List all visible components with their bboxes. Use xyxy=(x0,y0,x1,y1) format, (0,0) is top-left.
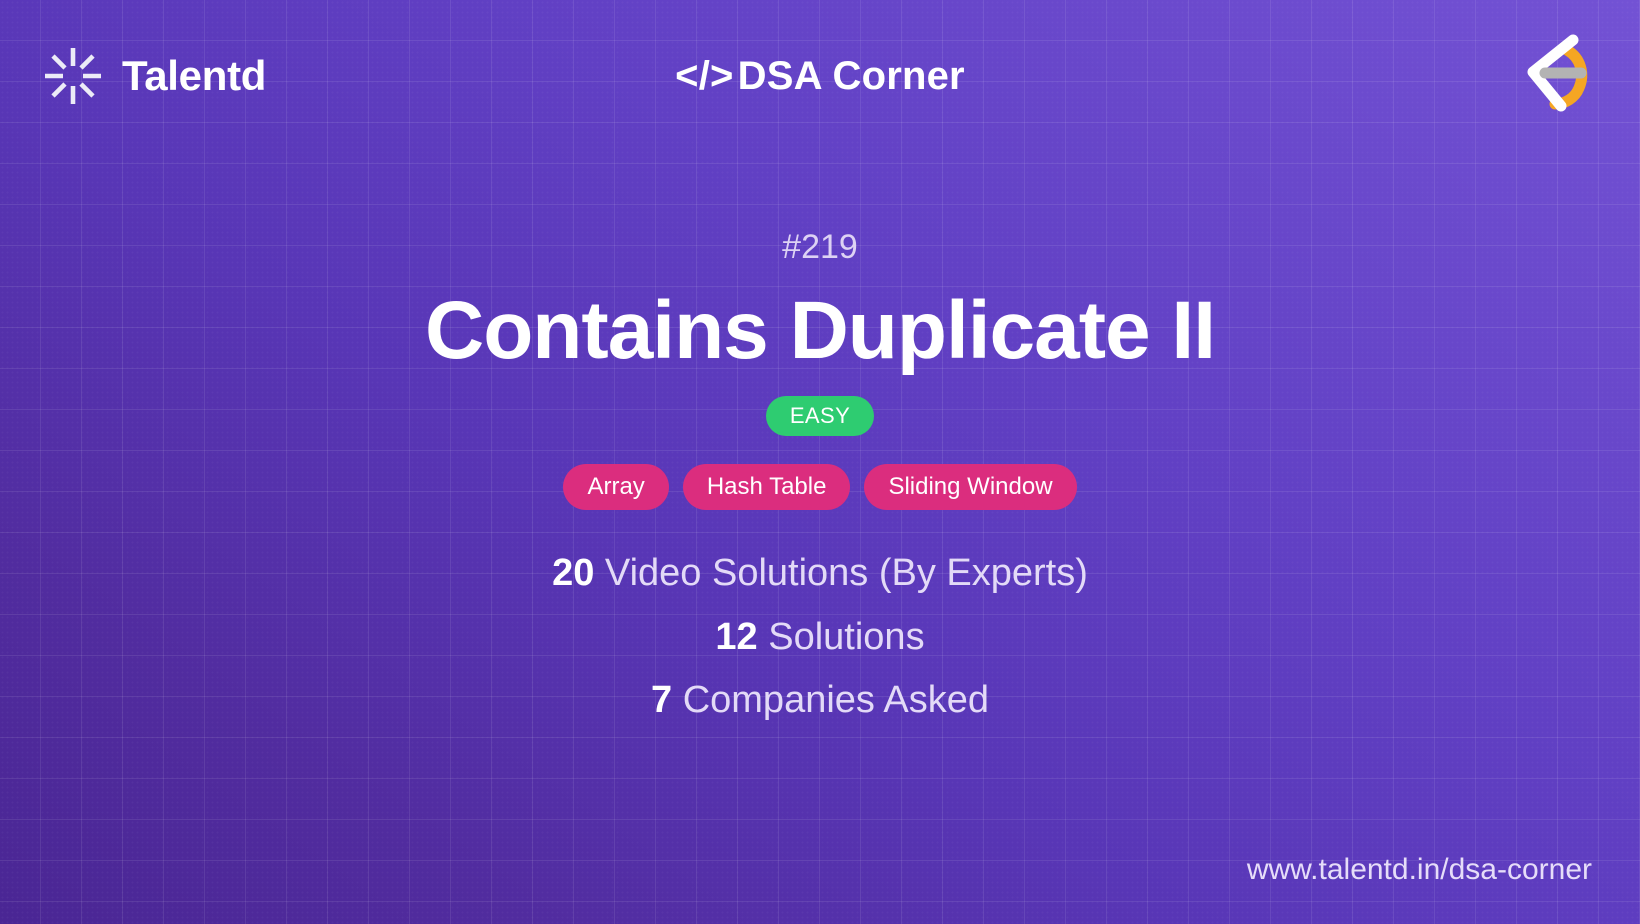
page-title: </>DSA Corner xyxy=(675,54,965,99)
problem-number: #219 xyxy=(782,230,858,264)
stat-companies-asked: 7 Companies Asked xyxy=(651,679,989,723)
footer-url[interactable]: www.talentd.in/dsa-corner xyxy=(1247,853,1592,887)
topic-tag-hash-table[interactable]: Hash Table xyxy=(683,464,851,510)
problem-content: #219 Contains Duplicate II EASY Array Ha… xyxy=(0,152,1640,834)
brand-name: Talentd xyxy=(122,55,266,97)
header-title-text: DSA Corner xyxy=(738,54,965,98)
stat-solutions: 12 Solutions xyxy=(715,616,924,660)
difficulty-badge: EASY xyxy=(766,396,874,436)
topic-tag-array[interactable]: Array xyxy=(563,464,668,510)
problem-title: Contains Duplicate II xyxy=(425,288,1215,374)
stat-solutions-value: 12 xyxy=(715,616,757,658)
stat-video-solutions-label: Video Solutions (By Experts) xyxy=(594,552,1088,594)
stats-list: 20 Video Solutions (By Experts) 12 Solut… xyxy=(552,552,1088,723)
stat-video-solutions: 20 Video Solutions (By Experts) xyxy=(552,552,1088,596)
stat-video-solutions-value: 20 xyxy=(552,552,594,594)
header-bar: Talentd </>DSA Corner xyxy=(0,0,1640,152)
stat-solutions-label: Solutions xyxy=(758,616,925,658)
starburst-icon xyxy=(44,47,102,105)
footer-bar: www.talentd.in/dsa-corner xyxy=(0,834,1640,924)
dsa-corner-card: Talentd </>DSA Corner #219 Contains Dupl… xyxy=(0,0,1640,924)
stat-companies-asked-value: 7 xyxy=(651,679,672,721)
leetcode-logo-icon xyxy=(1499,26,1595,122)
topic-tag-sliding-window[interactable]: Sliding Window xyxy=(864,464,1076,510)
stat-companies-asked-label: Companies Asked xyxy=(672,679,989,721)
code-brackets-icon: </> xyxy=(675,54,733,98)
brand-logo[interactable]: Talentd xyxy=(44,47,266,105)
topic-tag-list: Array Hash Table Sliding Window xyxy=(563,464,1076,510)
